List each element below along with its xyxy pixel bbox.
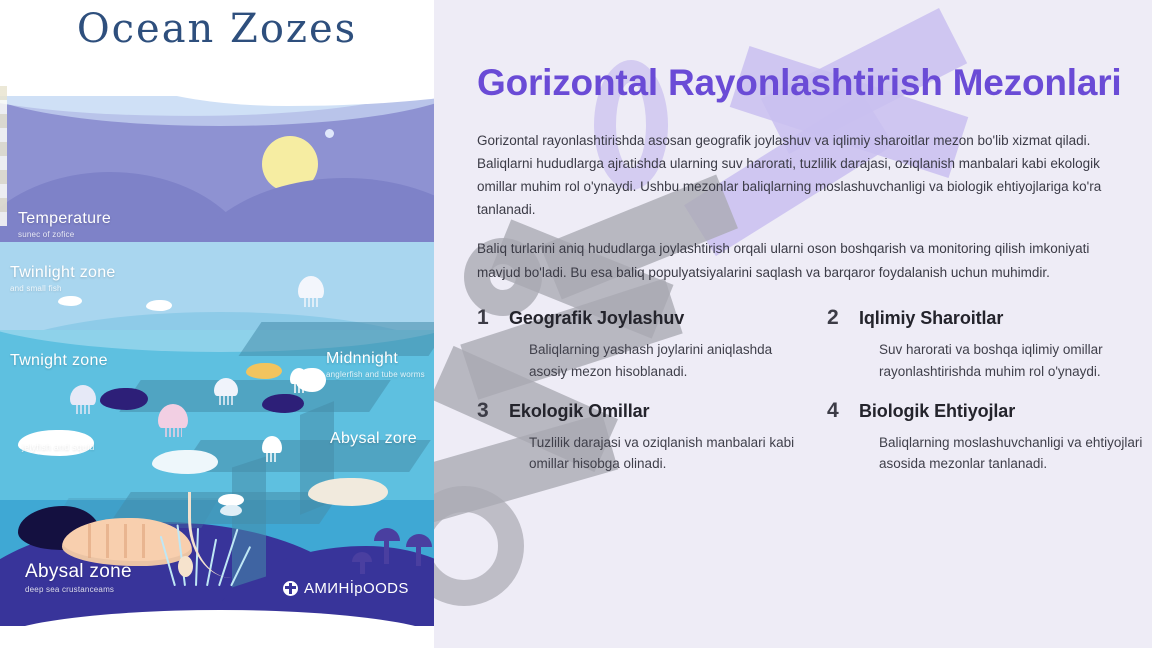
poster-title: Ocean Zozes xyxy=(0,6,434,52)
jellyfish-icon xyxy=(214,378,238,396)
jellyfish-icon xyxy=(70,385,96,405)
zone-label-midnight: Midnnight anglerfish and tube worms xyxy=(326,350,425,379)
criteria-description: Baliqlarning yashash joylarini aniqlashd… xyxy=(477,339,795,383)
criteria-title: Geografik Joylashuv xyxy=(509,308,684,329)
intro-paragraph-2: Baliq turlarini aniq hududlarga joylasht… xyxy=(477,237,1102,283)
plate-shape xyxy=(119,380,391,412)
page-title: Gorizontal Rayonlashtirish Mezonlari xyxy=(477,62,1152,105)
watermark-shape xyxy=(434,486,524,606)
content-column: Gorizontal Rayonlashtirish Mezonlari Gor… xyxy=(434,0,1152,475)
ruler-edge-decoration xyxy=(0,86,7,226)
criteria-description: Suv harorati va boshqa iqlimiy omillar r… xyxy=(827,339,1145,383)
criteria-item-2: 2 Iqlimiy Sharoitlar Suv harorati va bos… xyxy=(827,306,1145,383)
ocean-zones-illustration: Ocean Zozes xyxy=(0,0,434,648)
criteria-grid: 1 Geografik Joylashuv Baliqlarning yasha… xyxy=(477,306,1152,475)
criteria-number: 1 xyxy=(477,306,490,330)
fish-icon xyxy=(100,388,148,410)
criteria-item-4: 4 Biologik Ehtiyojlar Baliqlarning mosla… xyxy=(827,399,1145,476)
zone-label-abyssal-upper: Abysal zore xyxy=(330,430,417,448)
coral-icon xyxy=(372,528,402,564)
brand-name: AMИHİpOODS xyxy=(304,580,409,597)
content-panel: Gorizontal Rayonlashtirish Mezonlari Gor… xyxy=(434,0,1152,648)
criteria-item-header: 1 Geografik Joylashuv xyxy=(477,306,795,330)
criteria-number: 4 xyxy=(827,399,840,423)
plus-circle-icon xyxy=(283,581,298,596)
criteria-title: Biologik Ehtiyojlar xyxy=(859,401,1015,422)
criteria-item-3: 3 Ekologik Omillar Tuzlilik darajasi va … xyxy=(477,399,795,476)
jellyfish-icon xyxy=(290,368,308,384)
zone-label-temperature: Temperature sunec of zofice xyxy=(18,210,111,239)
criteria-description: Tuzlilik darajasi va oziqlanish manbalar… xyxy=(477,432,795,476)
zone-label-twilight-upper: Twinlight zone and small fish xyxy=(10,264,116,293)
zone-label-abyssal: Abysal zone deep sea crustanceams xyxy=(25,562,132,594)
fish-icon xyxy=(262,394,304,413)
criteria-number: 3 xyxy=(477,399,490,423)
criteria-item-header: 2 Iqlimiy Sharoitlar xyxy=(827,306,1145,330)
slide-root: Ocean Zozes xyxy=(0,0,1152,648)
coral-icon xyxy=(404,534,434,566)
intro-paragraph-1: Gorizontal rayonlashtirishda asosan geog… xyxy=(477,129,1102,222)
fish-icon xyxy=(58,296,82,306)
jellyfish-icon xyxy=(262,436,282,453)
criteria-description: Baliqlarning moslashuvchanligi va ehtiyo… xyxy=(827,432,1145,476)
brand-logo: AMИHİpOODS xyxy=(283,580,409,597)
criteria-item-header: 3 Ekologik Omillar xyxy=(477,399,795,423)
coral-icon xyxy=(352,552,374,574)
zone-label-twilight-lower: Twnight zone xyxy=(10,352,108,370)
criteria-title: Iqlimiy Sharoitlar xyxy=(859,308,1003,329)
criteria-title: Ekologik Omillar xyxy=(509,401,649,422)
zone-label-jellyfish: jelyfish and squid xyxy=(22,440,95,452)
illustration-base xyxy=(0,626,434,648)
criteria-item-1: 1 Geografik Joylashuv Baliqlarning yasha… xyxy=(477,306,795,383)
fish-icon xyxy=(152,450,218,474)
criteria-item-header: 4 Biologik Ehtiyojlar xyxy=(827,399,1145,423)
criteria-number: 2 xyxy=(827,306,840,330)
fish-icon xyxy=(146,300,172,311)
fish-icon xyxy=(308,478,388,506)
fish-icon xyxy=(246,363,282,379)
star-icon xyxy=(325,129,334,138)
angler-lure-icon xyxy=(178,556,193,577)
